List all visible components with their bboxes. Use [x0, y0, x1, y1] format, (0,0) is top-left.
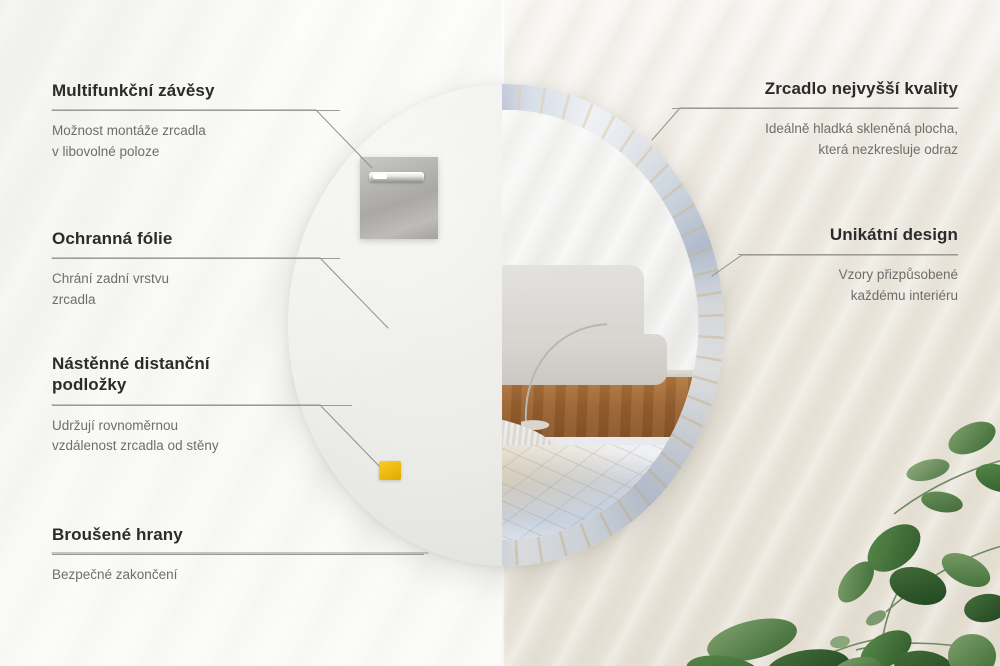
callout-highest-quality-mirror: Zrcadlo nejvyšší kvality Ideálně hladká …: [672, 78, 958, 160]
reflection-arc-lamp: [521, 312, 644, 432]
desc-line-1: Chrání zadní vrstvu: [52, 271, 169, 286]
title-line-1: Nástěnné distanční: [52, 354, 210, 373]
hanger-keyhole-slot: [369, 172, 424, 182]
callout-description: Bezpečné zakončení: [52, 565, 424, 585]
callout-title: Broušené hrany: [52, 524, 424, 545]
desc-line-1: Ideálně hladká skleněná plocha,: [765, 121, 958, 136]
callout-title: Unikátní design: [738, 224, 958, 245]
desc-line-2: zrcadla: [52, 292, 96, 307]
callout-polished-edges: Broušené hrany Bezpečné zakončení: [52, 524, 424, 586]
callout-protective-foil: Ochranná fólie Chrání zadní vrstvu zrcad…: [52, 228, 340, 310]
desc-line-2: vzdálenost zrcadla od stěny: [52, 438, 219, 453]
callout-wall-spacers: Nástěnné distanční podložky Udržují rovn…: [52, 353, 352, 456]
callout-rule: [52, 405, 352, 406]
callout-description: Chrání zadní vrstvu zrcadla: [52, 269, 340, 310]
callout-description: Ideálně hladká skleněná plocha, která ne…: [672, 119, 958, 160]
desc-line-2: v libovolné poloze: [52, 144, 159, 159]
wall-spacer-pad: [379, 461, 401, 480]
callout-rule: [52, 258, 340, 259]
mirror-disc: [288, 84, 724, 566]
callout-title: Ochranná fólie: [52, 228, 340, 249]
desc-line-2: která nezkresluje odraz: [818, 142, 958, 157]
callout-description: Možnost montáže zrcadla v libovolné polo…: [52, 121, 340, 162]
desc-line-1: Vzory přizpůsobené: [839, 267, 958, 282]
callout-multifunctional-hangers: Multifunkční závěsy Možnost montáže zrca…: [52, 80, 340, 162]
infographic-canvas: Multifunkční závěsy Možnost montáže zrca…: [0, 0, 1000, 666]
desc-line-2: každému interiéru: [851, 288, 958, 303]
title-line-2: podložky: [52, 375, 126, 394]
desc-line-1: Možnost montáže zrcadla: [52, 123, 206, 138]
callout-description: Udržují rovnoměrnou vzdálenost zrcadla o…: [52, 416, 352, 457]
callout-title: Zrcadlo nejvyšší kvality: [672, 78, 958, 99]
decorative-foliage: [680, 350, 1000, 666]
callout-title: Nástěnné distanční podložky: [52, 353, 352, 396]
callout-rule: [52, 110, 340, 111]
mirror-product: [288, 84, 724, 566]
callout-title: Multifunkční závěsy: [52, 80, 340, 101]
hanger-plate: [360, 157, 438, 239]
callout-description: Vzory přizpůsobené každému interiéru: [738, 265, 958, 306]
callout-unique-design: Unikátní design Vzory přizpůsobené každé…: [738, 224, 958, 306]
callout-rule: [52, 554, 424, 555]
desc-line-1: Udržují rovnoměrnou: [52, 418, 178, 433]
callout-rule: [738, 254, 958, 255]
callout-rule: [672, 108, 958, 109]
